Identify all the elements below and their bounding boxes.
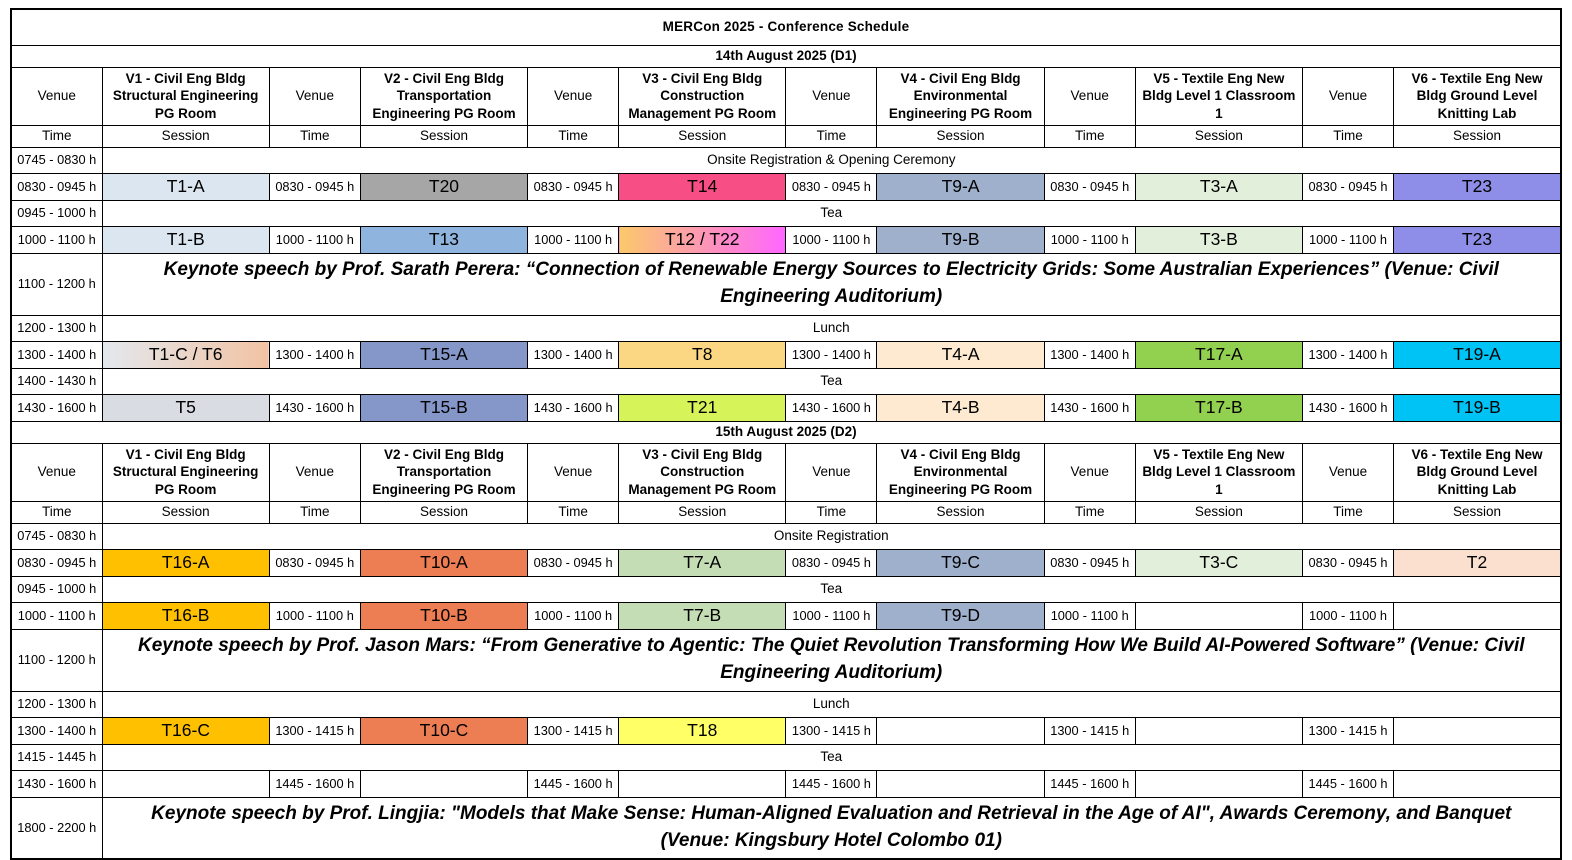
session-time-v6: 1000 - 1100 h [1302,226,1393,253]
venue-label-6: Venue [1302,443,1393,501]
session-code-v6 [1394,770,1561,797]
session-time-v4: 1000 - 1100 h [786,226,877,253]
session-time-v2: 1300 - 1400 h [269,341,360,368]
column-subheader-row: TimeSessionTimeSessionTimeSessionTimeSes… [11,501,1561,523]
time-column-header-4: Time [786,501,877,523]
session-code-v6[interactable]: T19-A [1394,341,1561,368]
schedule-body: MERCon 2025 - Conference Schedule14th Au… [11,9,1561,859]
session-code-v1[interactable]: T16-C [102,717,269,744]
venue-name-v1: V1 - Civil Eng Bldg Structural Engineeri… [102,67,269,125]
session-code-v4[interactable]: T9-C [877,549,1044,576]
session-column-header-6: Session [1394,501,1561,523]
session-code-v3[interactable]: T8 [619,341,786,368]
session-time-v5: 1300 - 1400 h [1044,341,1135,368]
session-code-v1 [102,770,269,797]
session-time-v6: 1430 - 1600 h [1302,394,1393,421]
session-column-header-2: Session [360,501,527,523]
venue-name-v5: V5 - Textile Eng New Bldg Level 1 Classr… [1135,443,1302,501]
session-column-header-3: Session [619,501,786,523]
venue-name-v2: V2 - Civil Eng Bldg Transportation Engin… [360,443,527,501]
session-code-v3[interactable]: T21 [619,394,786,421]
row-time: 0945 - 1000 h [11,200,102,226]
session-code-v6 [1394,717,1561,744]
day-label: 15th August 2025 (D2) [11,421,1561,443]
session-time-v1: 1000 - 1100 h [11,602,102,629]
session-time-v3: 1300 - 1400 h [528,341,619,368]
session-column-header-3: Session [619,125,786,147]
break-label: Onsite Registration & Opening Ceremony [102,147,1561,173]
session-time-v1: 0830 - 0945 h [11,173,102,200]
venue-header-row: VenueV1 - Civil Eng Bldg Structural Engi… [11,443,1561,501]
time-column-header-5: Time [1044,125,1135,147]
session-time-v2: 1000 - 1100 h [269,602,360,629]
session-time-v3: 1430 - 1600 h [528,394,619,421]
schedule-page: MERCon 2025 - Conference Schedule14th Au… [0,0,1572,822]
session-code-v4[interactable]: T9-B [877,226,1044,253]
column-subheader-row: TimeSessionTimeSessionTimeSessionTimeSes… [11,125,1561,147]
venue-label-4: Venue [786,67,877,125]
session-code-v2[interactable]: T10-C [360,717,527,744]
venue-label-6: Venue [1302,67,1393,125]
day-header-row: 14th August 2025 (D1) [11,45,1561,67]
keynote-text: Keynote speech by Prof. Sarath Perera: “… [102,253,1561,315]
break-row: 0745 - 0830 hOnsite Registration & Openi… [11,147,1561,173]
session-time-v2: 0830 - 0945 h [269,173,360,200]
day-header-row: 15th August 2025 (D2) [11,421,1561,443]
session-code-v5[interactable]: T17-A [1135,341,1302,368]
break-label: Lunch [102,315,1561,341]
session-code-v2[interactable]: T20 [360,173,527,200]
session-code-v1[interactable]: T16-A [102,549,269,576]
session-time-v6: 1300 - 1415 h [1302,717,1393,744]
schedule-title-row: MERCon 2025 - Conference Schedule [11,9,1561,45]
session-code-v4[interactable]: T4-B [877,394,1044,421]
session-code-v2[interactable]: T13 [360,226,527,253]
session-time-v2: 1445 - 1600 h [269,770,360,797]
session-code-v1[interactable]: T1-C / T6 [102,341,269,368]
session-row: 1000 - 1100 hT1-B1000 - 1100 hT131000 - … [11,226,1561,253]
keynote-row: 1800 - 2200 hKeynote speech by Prof. Lin… [11,797,1561,859]
venue-name-v6: V6 - Textile Eng New Bldg Ground Level K… [1394,67,1561,125]
session-time-v4: 1300 - 1400 h [786,341,877,368]
break-row: 1400 - 1430 hTea [11,368,1561,394]
session-code-v5[interactable]: T3-C [1135,549,1302,576]
venue-label-4: Venue [786,443,877,501]
session-column-header-5: Session [1135,125,1302,147]
session-column-header-6: Session [1394,125,1561,147]
session-column-header-5: Session [1135,501,1302,523]
session-column-header-2: Session [360,125,527,147]
session-time-v3: 1000 - 1100 h [528,226,619,253]
venue-header-row: VenueV1 - Civil Eng Bldg Structural Engi… [11,67,1561,125]
session-time-v5: 0830 - 0945 h [1044,173,1135,200]
row-time: 0745 - 0830 h [11,523,102,549]
session-code-v6[interactable]: T19-B [1394,394,1561,421]
session-row: 1300 - 1400 hT1-C / T61300 - 1400 hT15-A… [11,341,1561,368]
session-code-v5 [1135,770,1302,797]
session-code-v4[interactable]: T4-A [877,341,1044,368]
session-column-header-1: Session [102,125,269,147]
session-time-v1: 1430 - 1600 h [11,394,102,421]
row-time: 1200 - 1300 h [11,691,102,717]
session-code-v3[interactable]: T18 [619,717,786,744]
time-column-header-3: Time [528,501,619,523]
session-code-v3[interactable]: T7-A [619,549,786,576]
venue-name-v4: V4 - Civil Eng Bldg Environmental Engine… [877,67,1044,125]
session-code-v3[interactable]: T14 [619,173,786,200]
session-time-v4: 1000 - 1100 h [786,602,877,629]
session-code-v2 [360,770,527,797]
session-row: 1300 - 1400 hT16-C1300 - 1415 hT10-C1300… [11,717,1561,744]
break-row: 0745 - 0830 hOnsite Registration [11,523,1561,549]
session-code-v2[interactable]: T15-B [360,394,527,421]
venue-name-v2: V2 - Civil Eng Bldg Transportation Engin… [360,67,527,125]
session-code-v2[interactable]: T10-B [360,602,527,629]
session-time-v1: 1000 - 1100 h [11,226,102,253]
session-time-v6: 1445 - 1600 h [1302,770,1393,797]
session-code-v4 [877,717,1044,744]
session-time-v3: 1445 - 1600 h [528,770,619,797]
session-time-v5: 1300 - 1415 h [1044,717,1135,744]
keynote-text: Keynote speech by Prof. Jason Mars: “Fro… [102,629,1561,691]
session-code-v6[interactable]: T23 [1394,226,1561,253]
session-column-header-4: Session [877,501,1044,523]
session-time-v5: 1000 - 1100 h [1044,226,1135,253]
session-code-v2[interactable]: T15-A [360,341,527,368]
row-time: 1415 - 1445 h [11,744,102,770]
break-label: Onsite Registration [102,523,1561,549]
session-row: 0830 - 0945 hT16-A0830 - 0945 hT10-A0830… [11,549,1561,576]
session-time-v3: 0830 - 0945 h [528,549,619,576]
time-column-header-6: Time [1302,125,1393,147]
session-time-v6: 1300 - 1400 h [1302,341,1393,368]
time-column-header-2: Time [269,501,360,523]
row-time: 1100 - 1200 h [11,629,102,691]
session-time-v6: 0830 - 0945 h [1302,549,1393,576]
session-time-v2: 0830 - 0945 h [269,549,360,576]
venue-name-v4: V4 - Civil Eng Bldg Environmental Engine… [877,443,1044,501]
day-label: 14th August 2025 (D1) [11,45,1561,67]
time-column-header-2: Time [269,125,360,147]
break-row: 1200 - 1300 hLunch [11,315,1561,341]
session-row: 1000 - 1100 hT16-B1000 - 1100 hT10-B1000… [11,602,1561,629]
row-time: 1200 - 1300 h [11,315,102,341]
break-label: Lunch [102,691,1561,717]
session-time-v3: 1000 - 1100 h [528,602,619,629]
session-time-v5: 0830 - 0945 h [1044,549,1135,576]
session-column-header-1: Session [102,501,269,523]
time-column-header-1: Time [11,501,102,523]
break-label: Tea [102,200,1561,226]
session-time-v2: 1430 - 1600 h [269,394,360,421]
session-time-v4: 0830 - 0945 h [786,549,877,576]
venue-label-5: Venue [1044,67,1135,125]
session-code-v2[interactable]: T10-A [360,549,527,576]
venue-name-v6: V6 - Textile Eng New Bldg Ground Level K… [1394,443,1561,501]
venue-label-1: Venue [11,443,102,501]
session-code-v4 [877,770,1044,797]
session-time-v1: 1300 - 1400 h [11,717,102,744]
session-column-header-4: Session [877,125,1044,147]
session-time-v4: 1445 - 1600 h [786,770,877,797]
row-time: 0745 - 0830 h [11,147,102,173]
keynote-row: 1100 - 1200 hKeynote speech by Prof. Sar… [11,253,1561,315]
break-label: Tea [102,368,1561,394]
venue-label-5: Venue [1044,443,1135,501]
venue-name-v1: V1 - Civil Eng Bldg Structural Engineeri… [102,443,269,501]
session-code-v5[interactable]: T3-A [1135,173,1302,200]
session-row: 0830 - 0945 hT1-A0830 - 0945 hT200830 - … [11,173,1561,200]
session-code-v4[interactable]: T9-A [877,173,1044,200]
session-code-v6[interactable]: T2 [1394,549,1561,576]
break-row: 0945 - 1000 hTea [11,576,1561,602]
session-time-v3: 0830 - 0945 h [528,173,619,200]
time-column-header-6: Time [1302,501,1393,523]
session-code-v1[interactable]: T1-B [102,226,269,253]
session-row: 1430 - 1600 hT51430 - 1600 hT15-B1430 - … [11,394,1561,421]
session-code-v5[interactable]: T3-B [1135,226,1302,253]
session-code-v5[interactable]: T17-B [1135,394,1302,421]
session-time-v5: 1445 - 1600 h [1044,770,1135,797]
venue-label-2: Venue [269,67,360,125]
session-code-v1[interactable]: T5 [102,394,269,421]
keynote-row: 1100 - 1200 hKeynote speech by Prof. Jas… [11,629,1561,691]
session-time-v4: 0830 - 0945 h [786,173,877,200]
break-row: 1415 - 1445 hTea [11,744,1561,770]
session-time-v4: 1300 - 1415 h [786,717,877,744]
session-time-v2: 1300 - 1415 h [269,717,360,744]
row-time: 0945 - 1000 h [11,576,102,602]
row-time: 1400 - 1430 h [11,368,102,394]
session-time-v5: 1430 - 1600 h [1044,394,1135,421]
break-label: Tea [102,576,1561,602]
session-time-v1: 1300 - 1400 h [11,341,102,368]
session-code-v6[interactable]: T23 [1394,173,1561,200]
venue-label-3: Venue [528,443,619,501]
session-code-v5 [1135,602,1302,629]
break-row: 1200 - 1300 hLunch [11,691,1561,717]
session-code-v3 [619,770,786,797]
session-code-v6 [1394,602,1561,629]
session-code-v1[interactable]: T16-B [102,602,269,629]
session-time-v2: 1000 - 1100 h [269,226,360,253]
session-time-v3: 1300 - 1415 h [528,717,619,744]
session-code-v1[interactable]: T1-A [102,173,269,200]
time-column-header-4: Time [786,125,877,147]
conference-schedule-table: MERCon 2025 - Conference Schedule14th Au… [10,8,1562,860]
venue-label-3: Venue [528,67,619,125]
time-column-header-3: Time [528,125,619,147]
venue-name-v5: V5 - Textile Eng New Bldg Level 1 Classr… [1135,67,1302,125]
session-time-v6: 1000 - 1100 h [1302,602,1393,629]
session-time-v6: 0830 - 0945 h [1302,173,1393,200]
session-code-v3[interactable]: T12 / T22 [619,226,786,253]
time-column-header-1: Time [11,125,102,147]
venue-name-v3: V3 - Civil Eng Bldg Construction Managem… [619,443,786,501]
venue-label-2: Venue [269,443,360,501]
session-code-v4[interactable]: T9-D [877,602,1044,629]
keynote-text: Keynote speech by Prof. Lingjia: "Models… [102,797,1561,859]
session-time-v1: 0830 - 0945 h [11,549,102,576]
venue-name-v3: V3 - Civil Eng Bldg Construction Managem… [619,67,786,125]
page-title: MERCon 2025 - Conference Schedule [11,9,1561,45]
session-time-v5: 1000 - 1100 h [1044,602,1135,629]
session-code-v5 [1135,717,1302,744]
time-column-header-5: Time [1044,501,1135,523]
break-label: Tea [102,744,1561,770]
session-code-v3[interactable]: T7-B [619,602,786,629]
break-row: 0945 - 1000 hTea [11,200,1561,226]
session-time-v4: 1430 - 1600 h [786,394,877,421]
session-time-v1: 1430 - 1600 h [11,770,102,797]
venue-label-1: Venue [11,67,102,125]
session-row: 1430 - 1600 h1445 - 1600 h1445 - 1600 h1… [11,770,1561,797]
row-time: 1100 - 1200 h [11,253,102,315]
row-time: 1800 - 2200 h [11,797,102,859]
